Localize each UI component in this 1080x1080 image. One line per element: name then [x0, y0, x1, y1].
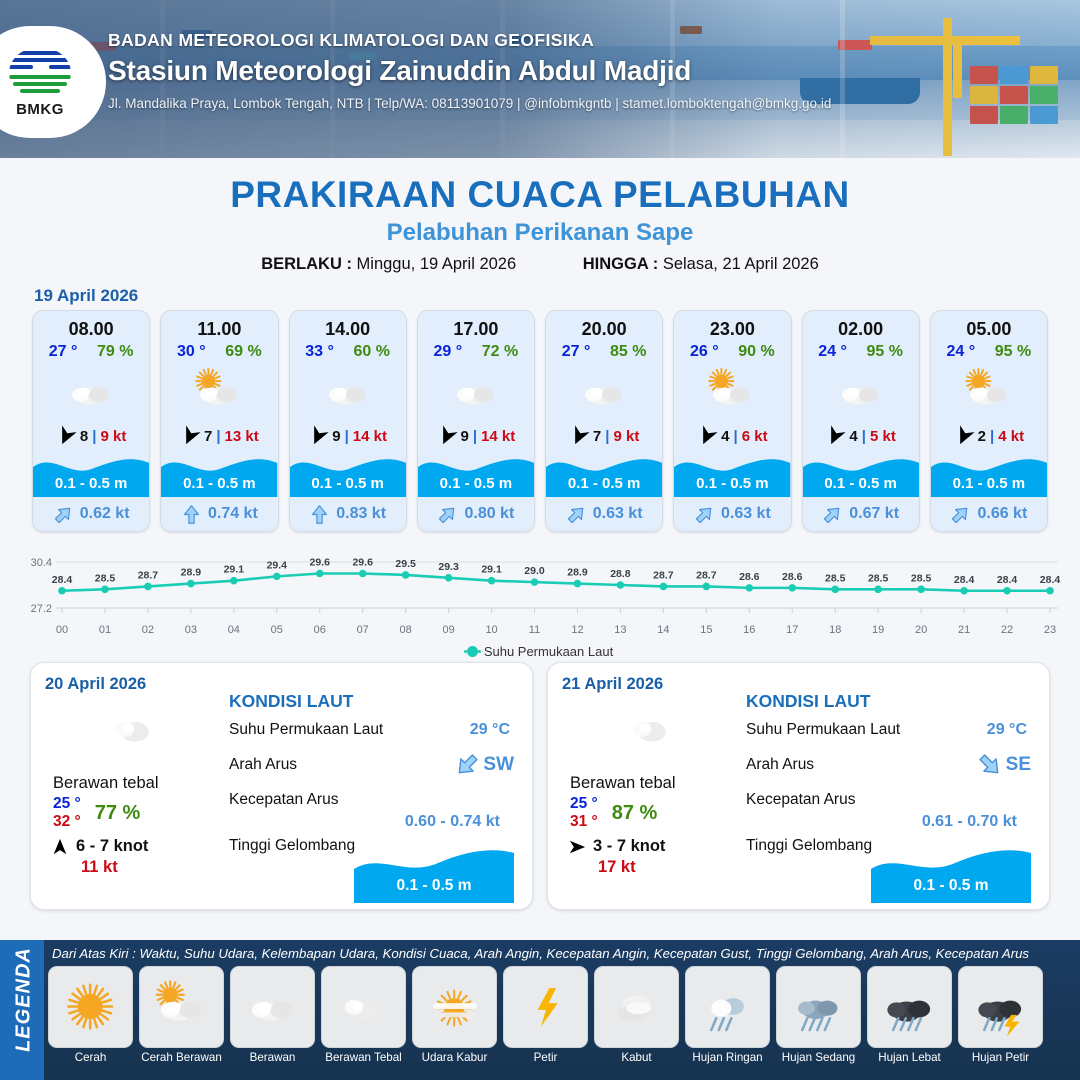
sea-conditions-title: KONDISI LAUT — [746, 691, 1035, 712]
legend-item-label: Udara Kabur — [412, 1051, 497, 1064]
wind-direction-icon — [822, 423, 849, 450]
card-current-speed: 0.80 kt — [464, 505, 514, 523]
current-direction-group: SE — [977, 752, 1031, 778]
legend-item-icon-box — [139, 966, 224, 1048]
daily-temps: 25 ° 32 ° 77 % — [45, 795, 225, 831]
legend-marker-icon — [467, 646, 478, 657]
svg-text:28.4: 28.4 — [1040, 574, 1061, 586]
card-weather-icon — [290, 363, 406, 421]
daily-wind-speed: 6 - 7 knot — [76, 837, 148, 856]
berlaku-label: BERLAKU : — [261, 255, 352, 273]
wind-separator: | — [345, 428, 349, 445]
card-current: 0.62 kt — [33, 497, 149, 531]
card-humidity: 85 % — [610, 343, 646, 361]
card-weather-icon — [33, 363, 149, 421]
legend-item-icon-box — [958, 966, 1043, 1048]
daily-left: 20 April 2026 Berawan tebal 25 ° 32 ° 77… — [45, 675, 225, 899]
card-temperature: 24 ° — [818, 343, 847, 361]
wind-separator: | — [216, 428, 220, 445]
hourly-date: 19 April 2026 — [34, 286, 1080, 306]
svg-text:28.4: 28.4 — [997, 574, 1018, 586]
sst-value: 29 °C — [470, 721, 510, 739]
wind-direction-icon — [950, 423, 977, 450]
card-humidity: 72 % — [482, 343, 518, 361]
card-wind-speed: 2 — [978, 428, 986, 445]
weather-icon-cerah-berawan — [151, 978, 213, 1035]
wind-separator: | — [92, 428, 96, 445]
card-wave-height: 0.1 - 0.5 m — [546, 475, 662, 492]
chart-x-tick: 15 — [700, 624, 712, 636]
berlaku-value: Minggu, 19 April 2026 — [357, 255, 517, 273]
weather-icon-berawan-tebal — [333, 978, 395, 1035]
wind-direction-icon — [53, 423, 80, 450]
wind-separator: | — [605, 428, 609, 445]
legend-icon-list: Cerah Cerah Berawan Berawan Berawan Teba… — [48, 966, 1074, 1064]
current-direction-icon — [561, 499, 591, 529]
current-direction-icon — [971, 747, 1008, 784]
card-time: 23.00 — [674, 311, 790, 340]
legend-item: Cerah Berawan — [139, 966, 224, 1064]
current-direction-row: Arah Arus SE — [746, 756, 1035, 782]
weather-icon-berawan — [833, 366, 889, 418]
weather-icon-hujan-lebat — [879, 978, 941, 1035]
card-gust: 14 kt — [481, 428, 515, 445]
hourly-card[interactable]: 14.00 33 ° 60 % 9 | 14 kt 0.1 - 0.5 m 0.… — [289, 310, 407, 532]
current-direction-row: Arah Arus SW — [229, 756, 518, 782]
daily-humidity: 87 % — [612, 802, 658, 825]
page-subtitle: Pelabuhan Perikanan Sape — [0, 219, 1080, 247]
daily-weather-icon — [562, 700, 742, 758]
daily-wave-graphic: 0.1 - 0.5 m — [871, 847, 1031, 903]
current-direction-icon — [818, 499, 848, 529]
card-wave: 0.1 - 0.5 m — [418, 451, 534, 497]
card-time: 14.00 — [290, 311, 406, 340]
svg-text:28.6: 28.6 — [782, 571, 803, 583]
wind-separator: | — [990, 428, 994, 445]
weather-icon-berawan — [320, 366, 376, 418]
page-header: BMKG BADAN METEOROLOGI KLIMATOLOGI DAN G… — [0, 0, 1080, 158]
chart-x-tick: 11 — [529, 624, 540, 636]
wind-direction-icon — [305, 423, 332, 450]
legenda-band: LEGENDA — [0, 940, 44, 1080]
legend-item: Berawan Tebal — [321, 966, 406, 1064]
card-current: 0.74 kt — [161, 497, 277, 531]
hourly-forecast-list: 08.00 27 ° 79 % 8 | 9 kt 0.1 - 0.5 m 0.6… — [0, 310, 1080, 532]
legend-item-icon-box — [685, 966, 770, 1048]
card-humidity: 69 % — [225, 343, 261, 361]
card-wave: 0.1 - 0.5 m — [33, 451, 149, 497]
wind-separator: | — [862, 428, 866, 445]
current-direction-value: SW — [483, 754, 514, 776]
card-wave: 0.1 - 0.5 m — [931, 451, 1047, 497]
legend-item-icon-box — [867, 966, 952, 1048]
card-gust: 13 kt — [225, 428, 259, 445]
weather-icon-petir — [515, 978, 577, 1035]
chart-x-tick: 14 — [657, 624, 669, 636]
card-gust: 9 kt — [100, 428, 126, 445]
weather-icon-berawan-tebal — [105, 701, 165, 756]
current-direction-icon — [690, 499, 720, 529]
card-wind: 7 | 9 kt — [546, 421, 662, 451]
legend-item-label: Hujan Ringan — [685, 1051, 770, 1064]
legend-item-icon-box — [503, 966, 588, 1048]
legend-item: Hujan Ringan — [685, 966, 770, 1064]
legend-item: Udara Kabur — [412, 966, 497, 1064]
card-humidity: 95 % — [866, 343, 902, 361]
current-direction-icon — [433, 499, 463, 529]
header-text-group: BADAN METEOROLOGI KLIMATOLOGI DAN GEOFIS… — [108, 30, 831, 111]
card-current: 0.67 kt — [803, 497, 919, 531]
current-speed-label: Kecepatan Arus — [746, 791, 855, 808]
card-current-speed: 0.67 kt — [849, 505, 899, 523]
card-weather-icon — [931, 363, 1047, 421]
svg-text:29.6: 29.6 — [310, 557, 331, 569]
card-wave: 0.1 - 0.5 m — [803, 451, 919, 497]
daily-weather-icon — [45, 700, 225, 758]
wind-separator: | — [473, 428, 477, 445]
svg-text:28.8: 28.8 — [610, 568, 631, 580]
legend-item: Berawan — [230, 966, 315, 1064]
card-wave-height: 0.1 - 0.5 m — [33, 475, 149, 492]
card-wind-speed: 9 — [332, 428, 340, 445]
chart-x-tick: 03 — [185, 624, 197, 636]
card-wind: 4 | 6 kt — [674, 421, 790, 451]
daily-wind-speed: 3 - 7 knot — [593, 837, 665, 856]
wind-separator: | — [734, 428, 738, 445]
weather-icon-hujan-petir — [970, 978, 1032, 1035]
card-humidity: 60 % — [353, 343, 389, 361]
card-weather-icon — [546, 363, 662, 421]
legend-item: Hujan Sedang — [776, 966, 861, 1064]
daily-condition: Berawan tebal — [562, 774, 742, 793]
weather-icon-hujan-sedang — [788, 978, 850, 1035]
contact-info: Jl. Mandalika Praya, Lombok Tengah, NTB … — [108, 96, 831, 111]
daily-humidity: 77 % — [95, 802, 141, 825]
svg-text:28.7: 28.7 — [653, 569, 674, 581]
wave-label: Tinggi Gelombang — [229, 837, 355, 854]
legend-item-label: Cerah Berawan — [139, 1051, 224, 1064]
daily-forecast-panels: 20 April 2026 Berawan tebal 25 ° 32 ° 77… — [0, 662, 1080, 910]
daily-forecast-card[interactable]: 21 April 2026 Berawan tebal 25 ° 31 ° 87… — [547, 662, 1050, 910]
svg-text:29.1: 29.1 — [224, 564, 245, 576]
card-current: 0.83 kt — [290, 497, 406, 531]
legend-item-icon-box — [594, 966, 679, 1048]
svg-text:30.4: 30.4 — [31, 557, 52, 569]
card-temperature: 24 ° — [947, 343, 976, 361]
daily-sea-conditions: KONDISI LAUT Suhu Permukaan Laut 29 °C A… — [225, 675, 518, 899]
card-time: 05.00 — [931, 311, 1047, 340]
card-wave-height: 0.1 - 0.5 m — [290, 475, 406, 492]
current-direction-icon — [181, 504, 202, 525]
daily-temp-min: 25 ° — [570, 795, 598, 812]
chart-x-tick: 19 — [872, 624, 884, 636]
card-wind: 2 | 4 kt — [931, 421, 1047, 451]
card-current-speed: 0.66 kt — [977, 505, 1027, 523]
card-gust: 5 kt — [870, 428, 896, 445]
current-direction-icon — [48, 499, 78, 529]
weather-icon-berawan — [448, 366, 504, 418]
card-wind: 7 | 13 kt — [161, 421, 277, 451]
weather-icon-berawan-tebal — [622, 701, 682, 756]
chart-x-tick: 20 — [915, 624, 927, 636]
chart-x-tick: 22 — [1001, 624, 1013, 636]
card-humidity: 79 % — [97, 343, 133, 361]
daily-wave-value: 0.1 - 0.5 m — [871, 877, 1031, 895]
daily-date: 21 April 2026 — [562, 675, 742, 694]
card-wind-speed: 9 — [461, 428, 469, 445]
current-direction-icon — [449, 747, 486, 784]
legenda-title: LEGENDA — [13, 940, 36, 1060]
chart-legend: Suhu Permukaan Laut — [16, 644, 1064, 659]
daily-date: 20 April 2026 — [45, 675, 225, 694]
daily-temp-max: 31 ° — [570, 813, 598, 830]
legend-item-label: Hujan Sedang — [776, 1051, 861, 1064]
chart-legend-label: Suhu Permukaan Laut — [484, 644, 613, 659]
chart-x-tick: 16 — [743, 624, 755, 636]
svg-text:28.4: 28.4 — [954, 574, 975, 586]
svg-text:28.5: 28.5 — [95, 572, 116, 584]
daily-sea-conditions: KONDISI LAUT Suhu Permukaan Laut 29 °C A… — [742, 675, 1035, 899]
sea-conditions-title: KONDISI LAUT — [229, 691, 518, 712]
legend-item-label: Hujan Petir — [958, 1051, 1043, 1064]
svg-text:29.5: 29.5 — [395, 558, 416, 570]
card-wind: 8 | 9 kt — [33, 421, 149, 451]
card-gust: 14 kt — [353, 428, 387, 445]
weather-icon-berawan — [63, 366, 119, 418]
wind-direction-icon — [51, 838, 69, 856]
chart-x-tick: 13 — [614, 624, 626, 636]
daily-wind: 3 - 7 knot — [562, 837, 742, 856]
hourly-card[interactable]: 23.00 26 ° 90 % 4 | 6 kt 0.1 - 0.5 m 0.6… — [673, 310, 791, 532]
card-weather-icon — [674, 363, 790, 421]
card-current-speed: 0.62 kt — [80, 505, 130, 523]
title-block: PRAKIRAAN CUACA PELABUHAN Pelabuhan Peri… — [0, 174, 1080, 274]
card-current: 0.80 kt — [418, 497, 534, 531]
weather-icon-cerah-berawan — [704, 366, 760, 418]
daily-wave-value: 0.1 - 0.5 m — [354, 877, 514, 895]
weather-icon-berawan — [242, 978, 304, 1035]
chart-x-tick: 23 — [1044, 624, 1056, 636]
card-wave: 0.1 - 0.5 m — [161, 451, 277, 497]
card-current-speed: 0.74 kt — [208, 505, 258, 523]
chart-x-tick: 07 — [357, 624, 369, 636]
chart-x-tick: 02 — [142, 624, 154, 636]
current-speed-row: Kecepatan Arus — [746, 791, 1035, 817]
card-temperature: 30 ° — [177, 343, 206, 361]
legend-item-icon-box — [321, 966, 406, 1048]
legend-caption: Dari Atas Kiri : Waktu, Suhu Udara, Kele… — [52, 946, 1029, 961]
current-speed-row: Kecepatan Arus — [229, 791, 518, 817]
legend-item: Cerah — [48, 966, 133, 1064]
weather-icon-cerah-berawan — [961, 366, 1017, 418]
current-direction-label: Arah Arus — [746, 756, 814, 773]
card-temperature: 27 ° — [562, 343, 591, 361]
legend-item-icon-box — [776, 966, 861, 1048]
bmkg-logo-icon — [9, 47, 71, 99]
legend-item-icon-box — [230, 966, 315, 1048]
legend-item-label: Berawan — [230, 1051, 315, 1064]
card-weather-icon — [418, 363, 534, 421]
card-weather-icon — [803, 363, 919, 421]
hourly-card[interactable]: 02.00 24 ° 95 % 4 | 5 kt 0.1 - 0.5 m 0.6… — [802, 310, 920, 532]
card-time: 02.00 — [803, 311, 919, 340]
card-current: 0.63 kt — [546, 497, 662, 531]
card-wave: 0.1 - 0.5 m — [546, 451, 662, 497]
current-direction-group: SW — [454, 752, 514, 778]
chart-x-tick: 08 — [400, 624, 412, 636]
legend-item-icon-box — [412, 966, 497, 1048]
weather-icon-hujan-ringan — [697, 978, 759, 1035]
sst-chart-svg: 30.427.228.428.528.728.929.129.429.629.6… — [16, 546, 1064, 624]
svg-text:28.4: 28.4 — [52, 574, 73, 586]
hourly-card[interactable]: 11.00 30 ° 69 % 7 | 13 kt 0.1 - 0.5 m 0.… — [160, 310, 278, 532]
legend-item: Petir — [503, 966, 588, 1064]
card-wave: 0.1 - 0.5 m — [674, 451, 790, 497]
svg-text:28.9: 28.9 — [567, 567, 588, 579]
chart-x-tick: 12 — [571, 624, 583, 636]
current-direction-value: SE — [1006, 754, 1031, 776]
daily-left: 21 April 2026 Berawan tebal 25 ° 31 ° 87… — [562, 675, 742, 899]
svg-text:28.9: 28.9 — [181, 567, 202, 579]
card-wind-speed: 4 — [849, 428, 857, 445]
daily-condition: Berawan tebal — [45, 774, 225, 793]
hingga-value: Selasa, 21 April 2026 — [663, 255, 819, 273]
svg-text:28.5: 28.5 — [911, 572, 932, 584]
daily-forecast-card[interactable]: 20 April 2026 Berawan tebal 25 ° 32 ° 77… — [30, 662, 533, 910]
card-weather-icon — [161, 363, 277, 421]
daily-temp-max: 32 ° — [53, 813, 81, 830]
sst-label: Suhu Permukaan Laut — [746, 721, 900, 738]
legend-item: Kabut — [594, 966, 679, 1064]
daily-wave-graphic: 0.1 - 0.5 m — [354, 847, 514, 903]
svg-text:29.6: 29.6 — [352, 557, 373, 569]
station-name: Stasiun Meteorologi Zainuddin Abdul Madj… — [108, 55, 831, 87]
card-wave-height: 0.1 - 0.5 m — [161, 475, 277, 492]
legend-item-icon-box — [48, 966, 133, 1048]
chart-x-tick: 17 — [786, 624, 798, 636]
card-wind: 9 | 14 kt — [418, 421, 534, 451]
chart-x-tick: 21 — [958, 624, 970, 636]
hourly-card[interactable]: 05.00 24 ° 95 % 2 | 4 kt 0.1 - 0.5 m 0.6… — [930, 310, 1048, 532]
chart-x-tick: 06 — [314, 624, 326, 636]
chart-x-tick: 00 — [56, 624, 68, 636]
card-temperature: 26 ° — [690, 343, 719, 361]
svg-text:29.0: 29.0 — [524, 565, 545, 577]
legend-item-label: Cerah — [48, 1051, 133, 1064]
card-current: 0.63 kt — [674, 497, 790, 531]
legend-strip: LEGENDA Dari Atas Kiri : Waktu, Suhu Uda… — [0, 940, 1080, 1080]
sst-chart: 30.427.228.428.528.728.929.129.429.629.6… — [16, 546, 1064, 656]
hourly-card[interactable]: 17.00 29 ° 72 % 9 | 14 kt 0.1 - 0.5 m 0.… — [417, 310, 535, 532]
wind-direction-icon — [433, 423, 460, 450]
weather-icon-cerah-berawan — [191, 366, 247, 418]
svg-text:28.5: 28.5 — [868, 572, 889, 584]
card-wave-height: 0.1 - 0.5 m — [674, 475, 790, 492]
card-time: 11.00 — [161, 311, 277, 340]
card-wind: 4 | 5 kt — [803, 421, 919, 451]
agency-name: BADAN METEOROLOGI KLIMATOLOGI DAN GEOFIS… — [108, 30, 831, 51]
current-direction-icon — [309, 504, 330, 525]
hourly-card[interactable]: 08.00 27 ° 79 % 8 | 9 kt 0.1 - 0.5 m 0.6… — [32, 310, 150, 532]
wind-direction-icon — [177, 423, 204, 450]
current-speed-label: Kecepatan Arus — [229, 791, 338, 808]
daily-gust: 11 kt — [45, 858, 225, 877]
card-time: 08.00 — [33, 311, 149, 340]
current-direction-icon — [946, 499, 976, 529]
daily-wind: 6 - 7 knot — [45, 837, 225, 856]
svg-text:29.1: 29.1 — [481, 564, 502, 576]
daily-gust: 17 kt — [562, 858, 742, 877]
card-temperature: 33 ° — [305, 343, 334, 361]
weather-icon-kabut — [606, 978, 668, 1035]
legend-item-label: Kabut — [594, 1051, 679, 1064]
card-current-speed: 0.63 kt — [593, 505, 643, 523]
wind-direction-icon — [566, 423, 593, 450]
card-current-speed: 0.63 kt — [721, 505, 771, 523]
card-wave-height: 0.1 - 0.5 m — [803, 475, 919, 492]
card-wind-speed: 4 — [721, 428, 729, 445]
card-humidity: 90 % — [738, 343, 774, 361]
wave-label: Tinggi Gelombang — [746, 837, 872, 854]
svg-text:29.3: 29.3 — [438, 561, 459, 573]
card-temperature: 29 ° — [434, 343, 463, 361]
sst-row: Suhu Permukaan Laut 29 °C — [229, 721, 518, 747]
svg-text:28.7: 28.7 — [696, 569, 717, 581]
hourly-card[interactable]: 20.00 27 ° 85 % 7 | 9 kt 0.1 - 0.5 m 0.6… — [545, 310, 663, 532]
svg-text:29.4: 29.4 — [267, 559, 288, 571]
card-wave: 0.1 - 0.5 m — [290, 451, 406, 497]
card-humidity: 95 % — [995, 343, 1031, 361]
card-wind: 9 | 14 kt — [290, 421, 406, 451]
card-time: 17.00 — [418, 311, 534, 340]
card-time: 20.00 — [546, 311, 662, 340]
sst-label: Suhu Permukaan Laut — [229, 721, 383, 738]
legend-item: Hujan Lebat — [867, 966, 952, 1064]
weather-icon-cerah — [60, 978, 122, 1035]
daily-temp-min: 25 ° — [53, 795, 81, 812]
card-current: 0.66 kt — [931, 497, 1047, 531]
chart-x-axis: 0001020304050607080910111213141516171819… — [16, 624, 1064, 640]
chart-x-tick: 05 — [271, 624, 283, 636]
sst-row: Suhu Permukaan Laut 29 °C — [746, 721, 1035, 747]
bmkg-logo-text: BMKG — [16, 101, 64, 118]
validity-row: BERLAKU : Minggu, 19 April 2026 HINGGA :… — [0, 255, 1080, 274]
card-gust: 9 kt — [613, 428, 639, 445]
card-current-speed: 0.83 kt — [336, 505, 386, 523]
svg-text:28.7: 28.7 — [138, 569, 159, 581]
chart-x-tick: 09 — [442, 624, 454, 636]
legend-item-label: Berawan Tebal — [321, 1051, 406, 1064]
legend-item-label: Petir — [503, 1051, 588, 1064]
page-title: PRAKIRAAN CUACA PELABUHAN — [0, 174, 1080, 216]
card-wind-speed: 8 — [80, 428, 88, 445]
card-gust: 6 kt — [742, 428, 768, 445]
card-wind-speed: 7 — [204, 428, 212, 445]
sst-value: 29 °C — [987, 721, 1027, 739]
card-wave-height: 0.1 - 0.5 m — [931, 475, 1047, 492]
wind-direction-icon — [694, 423, 721, 450]
card-wave-height: 0.1 - 0.5 m — [418, 475, 534, 492]
chart-x-tick: 01 — [99, 624, 111, 636]
chart-x-tick: 18 — [829, 624, 841, 636]
svg-text:28.6: 28.6 — [739, 571, 760, 583]
weather-icon-berawan — [576, 366, 632, 418]
hingga-label: HINGGA : — [583, 255, 658, 273]
card-wind-speed: 7 — [593, 428, 601, 445]
svg-text:28.5: 28.5 — [825, 572, 846, 584]
card-temperature: 27 ° — [49, 343, 78, 361]
wind-direction-icon — [568, 838, 586, 856]
